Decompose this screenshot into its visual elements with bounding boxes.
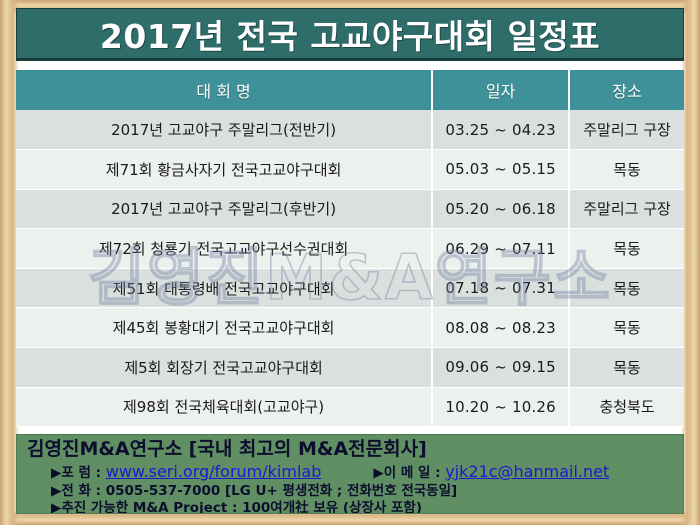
cell-date: 03.25 ~ 04.23	[432, 110, 569, 150]
cell-name: 제98회 전국체육대회(고교야구)	[16, 387, 432, 427]
cell-date: 06.29 ~ 07.11	[432, 229, 569, 269]
table-row: 제71회 황금사자기 전국고교야구대회05.03 ~ 05.15목동	[16, 150, 684, 190]
company-name: 김영진M&A연구소 [국내 최고의 M&A전문회사]	[17, 438, 683, 462]
table-header-row: 대 회 명 일자 장소	[16, 70, 684, 110]
project-line: ▶추진 가능한 M&A Project : 100여개社 보유 (상장사 포함)	[17, 500, 683, 514]
cell-name: 2017년 고교야구 주말리그(전반기)	[16, 110, 432, 150]
cell-date: 09.06 ~ 09.15	[432, 348, 569, 388]
column-header-name: 대 회 명	[16, 70, 432, 110]
forum-segment: ▶포 럼 : www.seri.org/forum/kimlab	[17, 462, 321, 483]
poster-root: 2017년 전국 고교야구대회 일정표 대 회 명 일자 장소 2017년 고교…	[0, 0, 700, 525]
page-title: 2017년 전국 고교야구대회 일정표	[100, 10, 600, 58]
footer-contact-box: 김영진M&A연구소 [국내 최고의 M&A전문회사] ▶포 럼 : www.se…	[16, 434, 684, 514]
table-row: 제98회 전국체육대회(고교야구)10.20 ~ 10.26충청북도	[16, 387, 684, 427]
email-segment: ▶이 메 일 : yjk21c@hanmail.net	[321, 462, 609, 483]
cell-name: 제45회 봉황대기 전국고교야구대회	[16, 308, 432, 348]
cell-place: 목동	[569, 268, 684, 308]
email-link[interactable]: yjk21c@hanmail.net	[445, 462, 609, 481]
column-header-date: 일자	[432, 70, 569, 110]
cell-place: 주말리그 구장	[569, 189, 684, 229]
forum-label: ▶포 럼 :	[51, 465, 106, 481]
cell-date: 07.18 ~ 07.31	[432, 268, 569, 308]
cell-name: 제72회 청룡기 전국고교야구선수권대회	[16, 229, 432, 269]
title-banner: 2017년 전국 고교야구대회 일정표	[16, 8, 684, 61]
table-body: 2017년 고교야구 주말리그(전반기)03.25 ~ 04.23주말리그 구장…	[16, 110, 684, 427]
table-row: 제5회 회장기 전국고교야구대회09.06 ~ 09.15목동	[16, 348, 684, 388]
cell-name: 제5회 회장기 전국고교야구대회	[16, 348, 432, 388]
cell-name: 제51회 대통령배 전국고교야구대회	[16, 268, 432, 308]
cell-date: 05.20 ~ 06.18	[432, 189, 569, 229]
forum-url-link[interactable]: www.seri.org/forum/kimlab	[106, 462, 322, 481]
footer-links-row: ▶포 럼 : www.seri.org/forum/kimlab ▶이 메 일 …	[17, 462, 683, 483]
cell-name: 2017년 고교야구 주말리그(후반기)	[16, 189, 432, 229]
cell-date: 05.03 ~ 05.15	[432, 150, 569, 190]
table-row: 제51회 대통령배 전국고교야구대회07.18 ~ 07.31목동	[16, 268, 684, 308]
cell-place: 목동	[569, 348, 684, 388]
cell-name: 제71회 황금사자기 전국고교야구대회	[16, 150, 432, 190]
table-row: 2017년 고교야구 주말리그(전반기)03.25 ~ 04.23주말리그 구장	[16, 110, 684, 150]
cell-date: 08.08 ~ 08.23	[432, 308, 569, 348]
phone-line: ▶전 화 : 0505-537-7000 [LG U+ 평생전화 ; 전화번호 …	[17, 483, 683, 501]
cell-place: 충청북도	[569, 387, 684, 427]
cell-place: 목동	[569, 150, 684, 190]
schedule-table: 대 회 명 일자 장소 2017년 고교야구 주말리그(전반기)03.25 ~ …	[16, 70, 684, 427]
cell-place: 목동	[569, 308, 684, 348]
column-header-place: 장소	[569, 70, 684, 110]
cell-place: 목동	[569, 229, 684, 269]
cell-date: 10.20 ~ 10.26	[432, 387, 569, 427]
schedule-table-container: 대 회 명 일자 장소 2017년 고교야구 주말리그(전반기)03.25 ~ …	[16, 70, 684, 427]
email-label: ▶이 메 일 :	[373, 465, 445, 481]
cell-place: 주말리그 구장	[569, 110, 684, 150]
table-row: 제45회 봉황대기 전국고교야구대회08.08 ~ 08.23목동	[16, 308, 684, 348]
table-row: 제72회 청룡기 전국고교야구선수권대회06.29 ~ 07.11목동	[16, 229, 684, 269]
table-row: 2017년 고교야구 주말리그(후반기)05.20 ~ 06.18주말리그 구장	[16, 189, 684, 229]
